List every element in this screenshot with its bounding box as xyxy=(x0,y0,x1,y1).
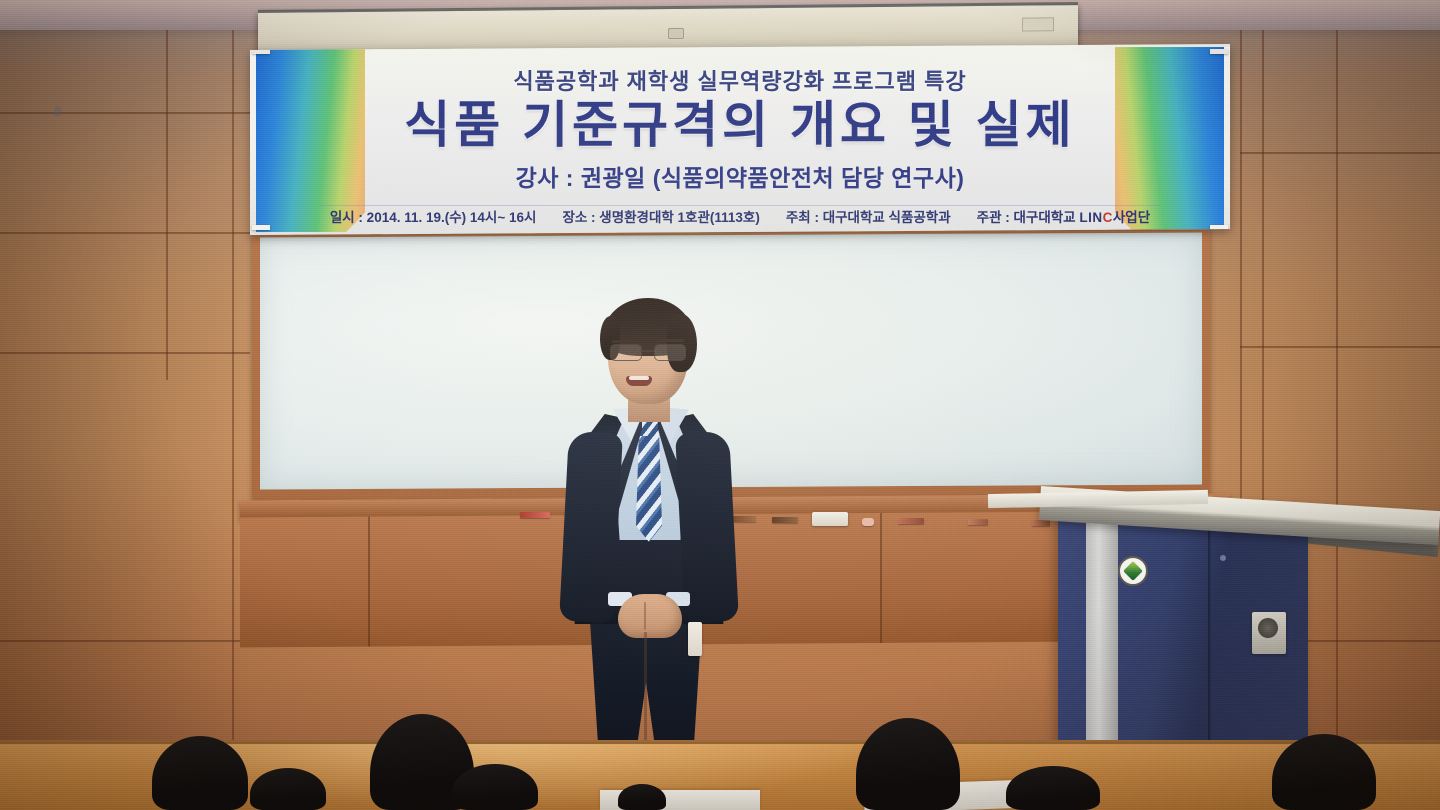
screen-label-tag xyxy=(1022,17,1054,31)
wall-seam xyxy=(1240,152,1440,154)
wall-seam xyxy=(166,30,168,380)
presenter-trouser-crease xyxy=(644,632,647,752)
ledge-marker xyxy=(772,517,798,523)
presenter xyxy=(548,292,748,772)
banner-title: 식품 기준규격의 개요 및 실제 xyxy=(404,99,1076,152)
cabinet-seam xyxy=(368,517,370,647)
presenter-hand-crease xyxy=(644,602,646,630)
audience-head xyxy=(618,784,666,810)
event-banner: 식품공학과 재학생 실무역량강화 프로그램 특강 식품 기준규격의 개요 및 실… xyxy=(250,44,1230,235)
university-seal-icon xyxy=(1118,556,1148,586)
screen-pull-knob xyxy=(668,28,684,39)
presenter-brow-right xyxy=(660,339,684,342)
banner-organizer-prefix: 주관 : 대구대학교 xyxy=(977,210,1080,225)
banner-subtitle: 식품공학과 재학생 실무역량강화 프로그램 특강 xyxy=(513,64,966,96)
banner-speaker-line: 강사 : 권광일 (식품의약품안전처 담당 연구사) xyxy=(516,159,965,193)
cabinet-seam xyxy=(880,513,882,643)
banner-footer: 일시 : 2014. 11. 19.(수) 14시~ 16시 장소 : 생명환경… xyxy=(250,206,1230,226)
wall-seam xyxy=(0,352,250,354)
ledge-marker xyxy=(898,518,924,524)
linc-suffix: 사업단 xyxy=(1113,210,1150,225)
linc-letter-c: C xyxy=(1103,210,1113,225)
wall-seam xyxy=(0,640,250,642)
ledge-chalk xyxy=(862,518,874,526)
presenter-brow-left xyxy=(612,340,636,343)
lecture-hall-photo: 식품공학과 재학생 실무역량강화 프로그램 특강 식품 기준규격의 개요 및 실… xyxy=(0,0,1440,810)
wall-seam xyxy=(0,232,250,234)
ledge-marker xyxy=(520,512,550,518)
banner-host: 주최 : 대구대학교 식품공학과 xyxy=(786,206,951,226)
ledge-eraser xyxy=(812,512,848,526)
wall-seam xyxy=(1240,346,1440,348)
presenter-pocket-card xyxy=(688,622,702,656)
lectern-screw xyxy=(1220,555,1226,561)
banner-place: 장소 : 생명환경대학 1호관(1113호) xyxy=(562,206,759,226)
glasses-lens-right xyxy=(654,344,686,361)
ledge-marker xyxy=(1032,520,1050,526)
wall-seam xyxy=(0,112,250,114)
glasses-lens-left xyxy=(610,344,642,361)
linc-letter-n: N xyxy=(1092,210,1102,225)
glasses-icon xyxy=(610,344,686,360)
seal-leaf-mark xyxy=(1123,561,1143,581)
presenter-tie xyxy=(636,426,662,542)
wall-seam xyxy=(232,30,234,750)
lectern-cable-port xyxy=(1252,612,1286,654)
presenter-hair-right xyxy=(667,314,697,372)
linc-letter-l: L xyxy=(1079,210,1088,225)
ledge-marker xyxy=(968,519,988,525)
presenter-hands xyxy=(618,594,682,638)
banner-datetime: 일시 : 2014. 11. 19.(수) 14시~ 16시 xyxy=(330,206,537,226)
presenter-mouth xyxy=(626,376,652,386)
banner-organizer: 주관 : 대구대학교 LINC사업단 xyxy=(977,206,1150,226)
